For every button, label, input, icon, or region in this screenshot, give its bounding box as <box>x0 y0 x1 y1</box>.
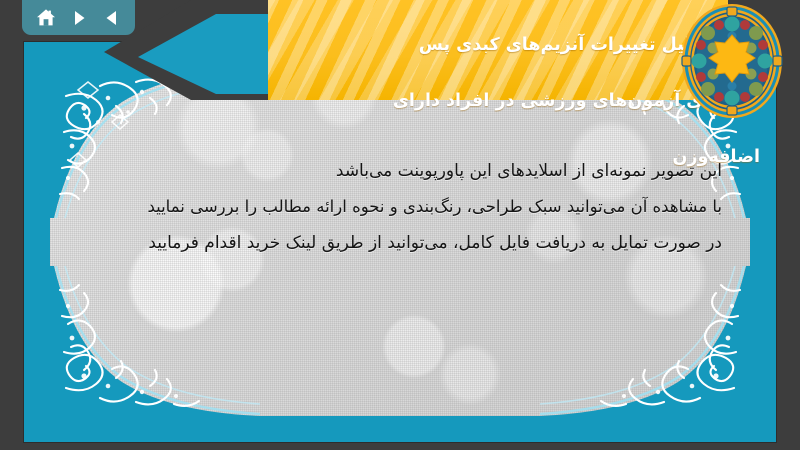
arabesque-corner-icon-bottom-left <box>50 266 260 416</box>
body-line-3: در صورت تمایل به دریافت فایل کامل، می‌تو… <box>78 225 722 261</box>
slide-viewer: این تصویر نمونه‌ای از اسلایدهای این پاور… <box>0 0 800 450</box>
page-title-line-3: اضافه‌وزن <box>18 143 760 171</box>
persian-medallion-icon <box>680 2 784 120</box>
page-title-line-2: از اجرای آزمون‌های ورزشی در افراد دارای <box>18 87 760 115</box>
forward-arrow-icon[interactable] <box>69 8 89 28</box>
navigation-bar <box>22 0 135 35</box>
arabesque-corner-icon-bottom-right <box>540 266 750 416</box>
page-title-line-1: کامل تحلیل تغییرات آنزیم‌های کبدی پس <box>18 31 760 59</box>
back-arrow-icon[interactable] <box>102 8 122 28</box>
home-icon[interactable] <box>36 8 56 28</box>
